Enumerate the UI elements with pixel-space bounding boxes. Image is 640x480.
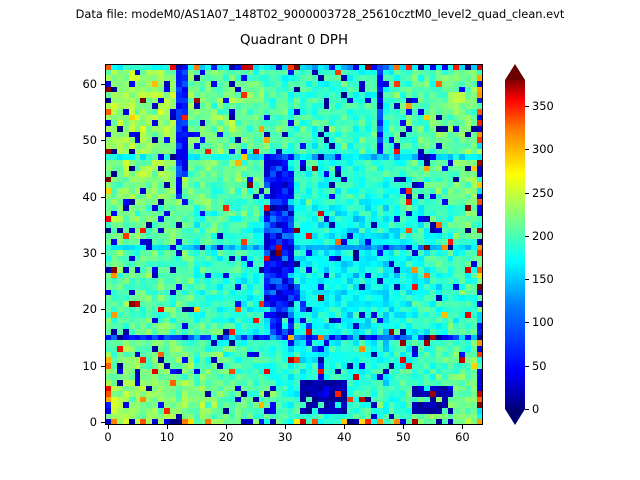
y-tick-label-0: 0 [57,415,97,429]
x-tick-mark [344,425,345,429]
data-file-suptitle: Data file: modeM0/AS1A07_148T02_90000037… [0,7,640,21]
x-tick-mark [226,425,227,429]
y-tick-label-30: 30 [57,246,97,260]
colorbar-tick-label-100: 100 [532,315,554,329]
x-tick-mark [108,425,109,429]
colorbar-tick-mark [525,149,529,150]
colorbar-tick-label-0: 0 [532,402,539,416]
y-tick-mark [101,366,105,367]
x-tick-label-0: 0 [88,430,128,444]
y-tick-mark [101,253,105,254]
y-tick-label-60: 60 [57,77,97,91]
colorbar-tick-label-200: 200 [532,229,554,243]
y-tick-mark [101,309,105,310]
colorbar-extend-top-arrow [505,64,525,80]
colorbar [505,64,525,425]
y-tick-mark [101,84,105,85]
y-tick-mark [101,422,105,423]
x-tick-mark [462,425,463,429]
x-tick-mark [285,425,286,429]
y-tick-mark [101,197,105,198]
x-tick-label-30: 30 [265,430,305,444]
colorbar-gradient [505,80,525,409]
heatmap-grid [105,64,483,425]
colorbar-tick-label-350: 350 [532,99,554,113]
colorbar-tick-mark [525,106,529,107]
colorbar-extend-bottom-arrow [505,409,525,425]
colorbar-tick-label-150: 150 [532,272,554,286]
colorbar-tick-mark [525,279,529,280]
heatmap-axes [105,64,483,425]
y-tick-label-40: 40 [57,190,97,204]
colorbar-tick-label-250: 250 [532,186,554,200]
y-tick-label-50: 50 [57,133,97,147]
x-tick-mark [167,425,168,429]
x-tick-label-10: 10 [147,430,187,444]
figure-canvas: Data file: modeM0/AS1A07_148T02_90000037… [0,0,640,480]
x-tick-mark [403,425,404,429]
y-tick-label-20: 20 [57,302,97,316]
colorbar-tick-label-300: 300 [532,142,554,156]
x-tick-label-60: 60 [442,430,482,444]
colorbar-tick-mark [525,236,529,237]
colorbar-tick-mark [525,409,529,410]
colorbar-tick-mark [525,366,529,367]
x-tick-label-20: 20 [206,430,246,444]
axes-title: Quadrant 0 DPH [105,33,483,48]
y-tick-mark [101,140,105,141]
y-tick-label-10: 10 [57,359,97,373]
x-tick-label-40: 40 [324,430,364,444]
colorbar-tick-mark [525,193,529,194]
colorbar-tick-label-50: 50 [532,359,547,373]
colorbar-tick-mark [525,322,529,323]
x-tick-label-50: 50 [383,430,423,444]
